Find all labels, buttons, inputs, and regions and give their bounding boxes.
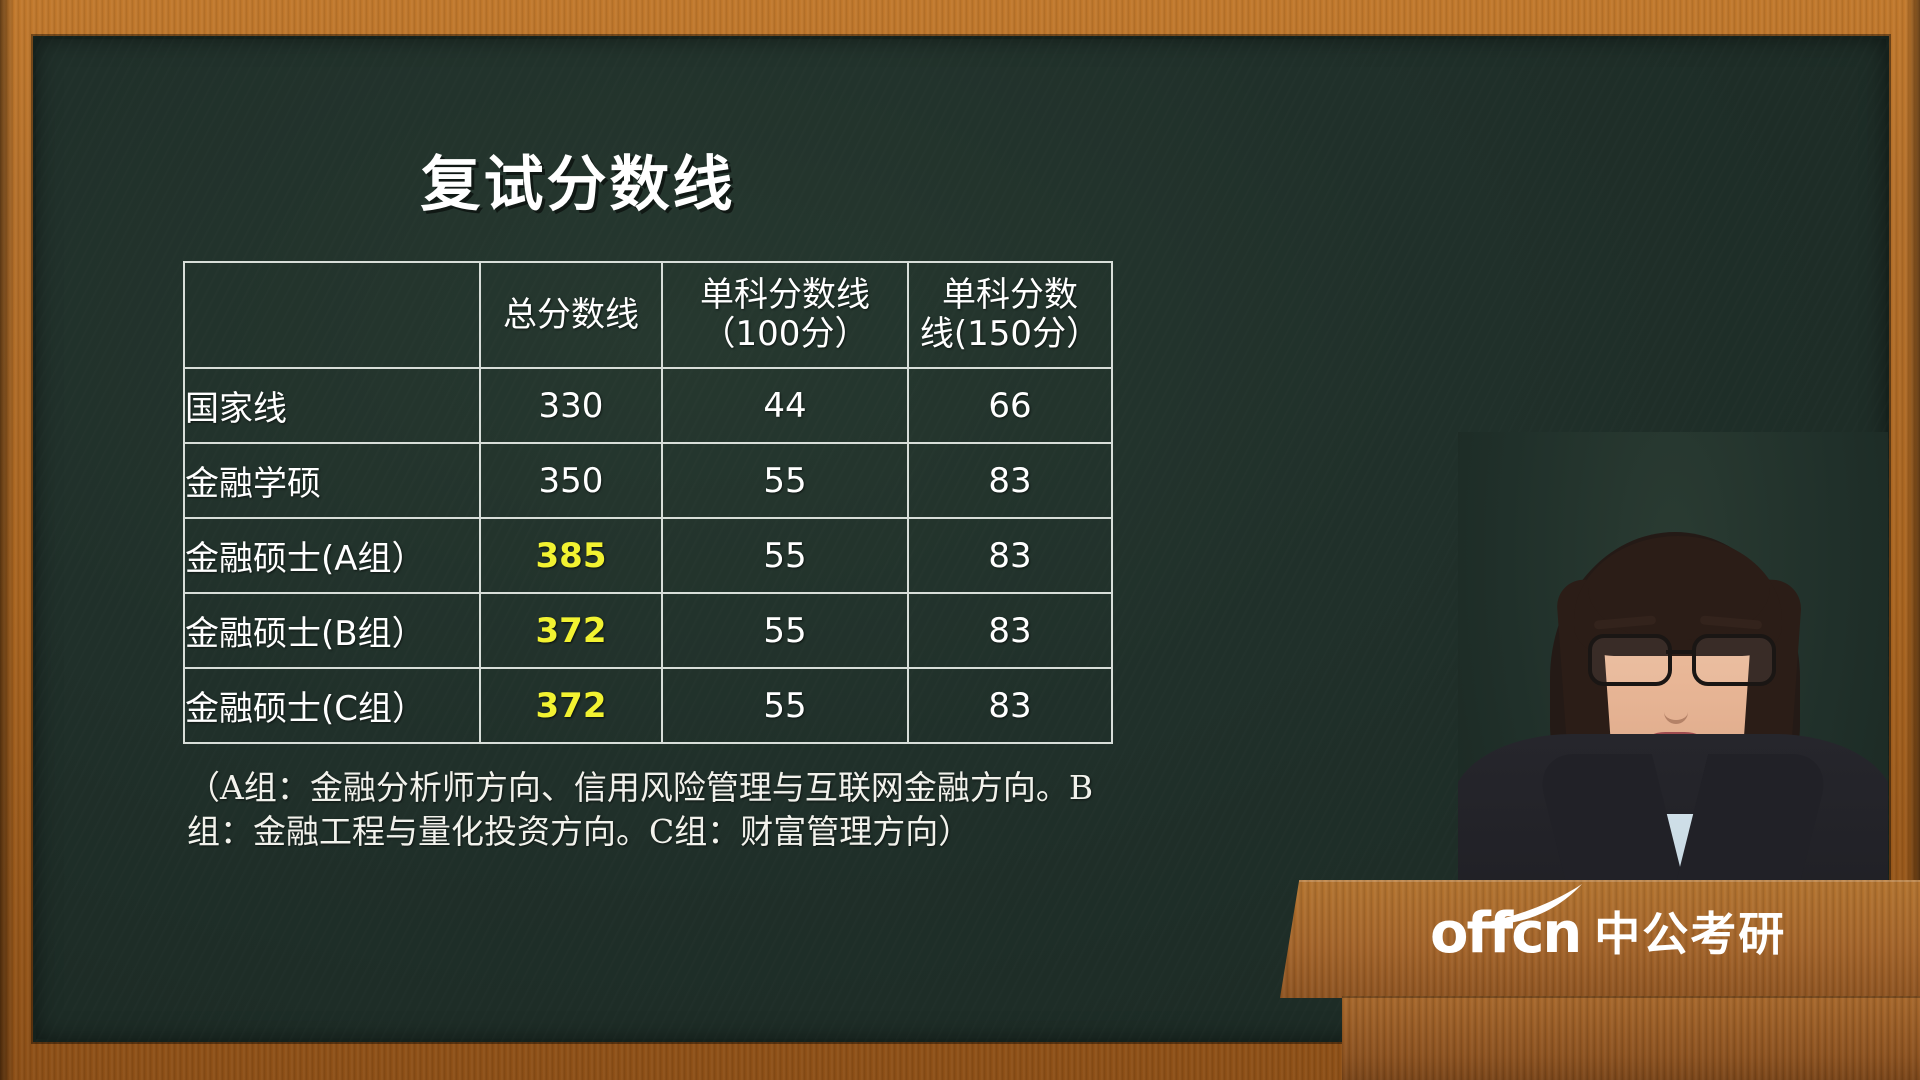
row-total-score: 372 <box>480 668 662 743</box>
row-single-100: 55 <box>662 593 908 668</box>
table-header-single-100-line1: 单科分数线 <box>663 276 907 315</box>
table-header-single-150-line2: 线(150分） <box>909 315 1111 354</box>
page-title: 复试分数线 <box>183 136 973 223</box>
glasses-icon <box>1586 634 1774 682</box>
brand-name-cn: 中公考研 <box>1594 911 1786 957</box>
row-total-score: 372 <box>480 593 662 668</box>
row-label: 金融硕士(B组） <box>184 593 480 668</box>
table-row: 金融硕士(C组） 372 55 83 <box>184 668 1112 743</box>
row-label: 金融硕士(A组） <box>184 518 480 593</box>
slide-content: 复试分数线 总分数线 单科分数线 （100分） 单科分数 <box>183 136 1243 853</box>
glasses-bridge <box>1666 650 1694 654</box>
lecture-video-frame: 复试分数线 总分数线 单科分数线 （100分） 单科分数 <box>0 0 1920 1080</box>
table-header-single-100: 单科分数线 （100分） <box>662 262 908 368</box>
glasses-lens-right <box>1692 634 1776 686</box>
nose <box>1664 684 1688 724</box>
row-single-150: 83 <box>908 668 1112 743</box>
row-total-score: 385 <box>480 518 662 593</box>
group-description-footnote: （A组：金融分析师方向、信用风险管理与互联网金融方向。B组：金融工程与量化投资方… <box>183 766 1147 853</box>
table-row: 金融学硕 350 55 83 <box>184 443 1112 518</box>
table-row: 金融硕士(B组） 372 55 83 <box>184 593 1112 668</box>
table-header-row: 总分数线 单科分数线 （100分） 单科分数 线(150分） <box>184 262 1112 368</box>
row-total-score: 350 <box>480 443 662 518</box>
podium: offcn 中公考研 <box>1280 880 1920 1080</box>
table-row: 国家线 330 44 66 <box>184 368 1112 443</box>
row-single-150: 83 <box>908 593 1112 668</box>
offcn-wordmark: offcn <box>1430 906 1580 962</box>
table-header-single-100-line2: （100分） <box>663 315 907 354</box>
row-label: 金融硕士(C组） <box>184 668 480 743</box>
brand-logo: offcn 中公考研 <box>1430 906 1786 962</box>
row-single-150: 83 <box>908 443 1112 518</box>
glasses-lens-left <box>1588 634 1672 686</box>
row-label: 金融学硕 <box>184 443 480 518</box>
score-line-table: 总分数线 单科分数线 （100分） 单科分数 线(150分） 国家线 <box>183 261 1113 744</box>
offcn-wordmark-text: offcn <box>1430 901 1580 966</box>
row-single-100: 44 <box>662 368 908 443</box>
row-label: 国家线 <box>184 368 480 443</box>
podium-base-panel <box>1342 996 1920 1080</box>
table-header-blank <box>184 262 480 368</box>
table-header-total-score: 总分数线 <box>480 262 662 368</box>
row-single-150: 83 <box>908 518 1112 593</box>
table-header-single-150: 单科分数 线(150分） <box>908 262 1112 368</box>
row-single-100: 55 <box>662 518 908 593</box>
row-single-100: 55 <box>662 443 908 518</box>
row-single-100: 55 <box>662 668 908 743</box>
row-single-150: 66 <box>908 368 1112 443</box>
table-row: 金融硕士(A组） 385 55 83 <box>184 518 1112 593</box>
table-header-single-150-line1: 单科分数 <box>909 276 1111 315</box>
row-total-score: 330 <box>480 368 662 443</box>
